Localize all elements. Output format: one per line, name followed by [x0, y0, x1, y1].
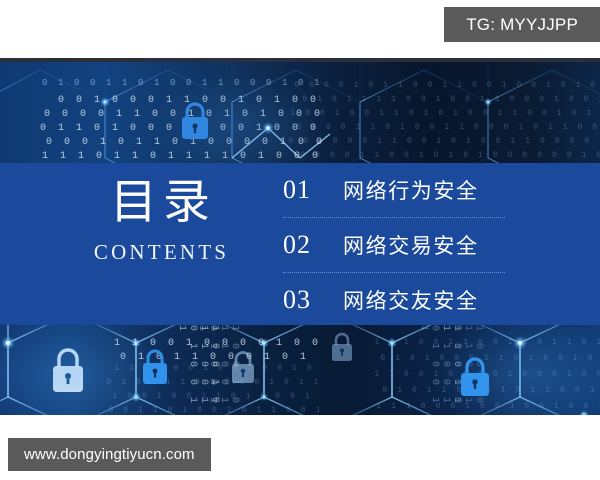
contents-item-02[interactable]: 02 网络交易安全 [283, 218, 505, 272]
watermark-bottom-text: www.dongyingtiyucn.com [24, 446, 195, 463]
contents-title-block: 目录 CONTENTS [60, 175, 260, 265]
hexagon-network-bottom [0, 325, 600, 415]
contents-item-number: 02 [283, 230, 343, 260]
hexagon-network-top [0, 62, 600, 163]
padlock-icon-hex-2 [139, 347, 171, 389]
banner-band-bottom: 1 1 0 0 1 0 0 0 0 1 0 0 0 1 0 0 1 0 1 0 … [0, 325, 600, 415]
contents-item-label: 网络交友安全 [343, 285, 479, 315]
contents-item-01[interactable]: 01 网络行为安全 [283, 163, 505, 217]
contents-item-number: 01 [283, 175, 343, 205]
contents-item-label: 网络交易安全 [343, 230, 479, 260]
slide-canvas: 0 1 0 0 1 1 0 1 0 0 1 1 0 0 0 1 0 1 1 0 … [0, 58, 600, 415]
padlock-icon-hex-3 [228, 349, 258, 389]
watermark-badge-bottom-left: www.dongyingtiyucn.com [8, 438, 211, 471]
page-title-cn: 目录 [60, 175, 260, 231]
padlock-icon-hex-4 [329, 331, 355, 365]
page-title-en: CONTENTS [60, 239, 260, 265]
padlock-icon-hex-1 [48, 345, 88, 397]
padlock-icon-hex-5 [457, 355, 493, 401]
slide-content: 目录 CONTENTS 01 网络行为安全 02 网络交易安全 03 网络交友安… [0, 163, 600, 325]
contents-item-03[interactable]: 03 网络交友安全 [283, 273, 505, 327]
watermark-top-text: TG: MYYJJPP [466, 15, 578, 35]
contents-item-number: 03 [283, 285, 343, 315]
contents-item-label: 网络行为安全 [343, 175, 479, 205]
banner-band-top: 0 1 0 0 1 1 0 1 0 0 1 1 0 0 0 1 0 1 1 0 … [0, 62, 600, 163]
watermark-badge-top-right: TG: MYYJJPP [444, 7, 600, 42]
contents-list: 01 网络行为安全 02 网络交易安全 03 网络交友安全 [283, 163, 505, 327]
padlock-icon [178, 100, 212, 144]
